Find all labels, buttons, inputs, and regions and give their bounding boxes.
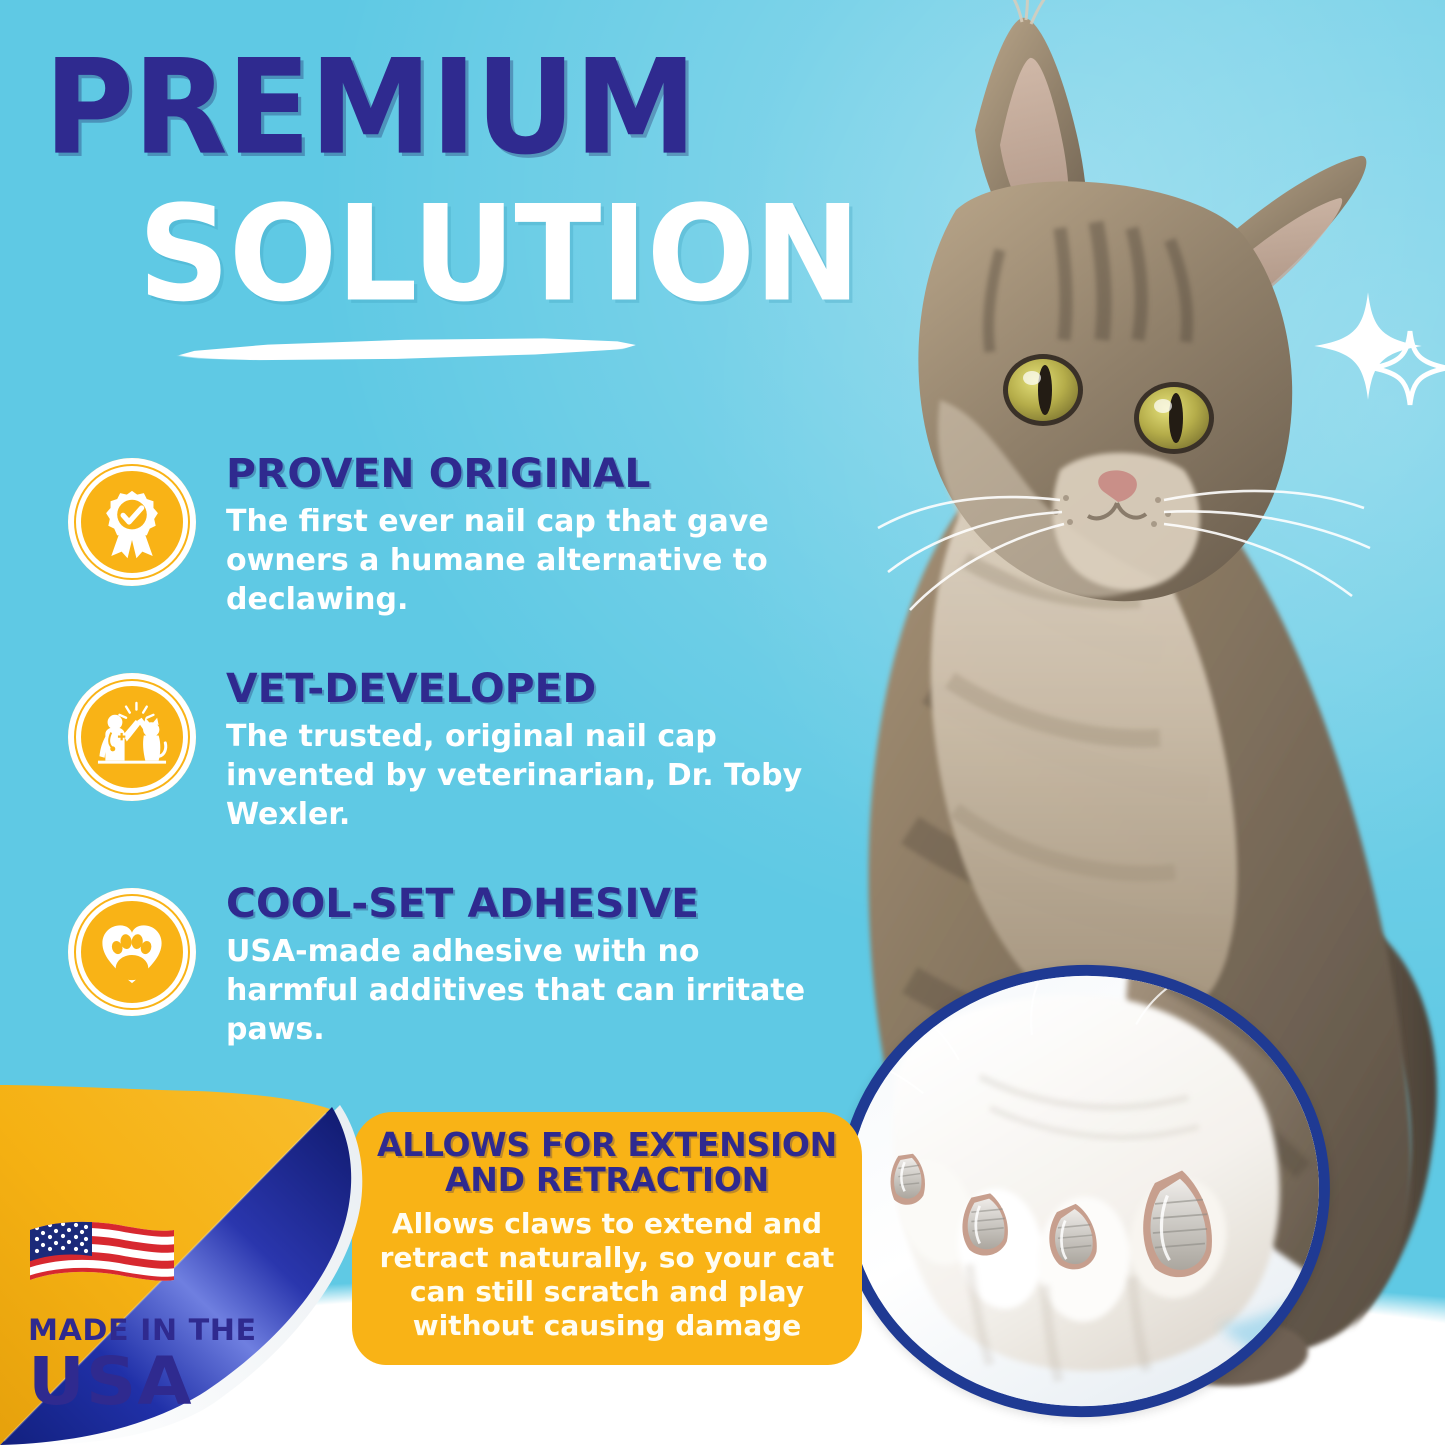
callout-title-line2: AND RETRACTION <box>374 1163 840 1198</box>
callout-title-line1: ALLOWS FOR EXTENSION <box>374 1128 840 1163</box>
made-in-the-label: MADE IN THE <box>28 1316 267 1345</box>
usa-label: USA <box>28 1349 272 1415</box>
headline-line-premium: PREMIUM <box>44 52 881 165</box>
feature-item-proven-original: PROVEN ORIGINAL The first ever nail cap … <box>62 448 842 619</box>
infographic-canvas: PREMIUM SOLUTION <box>0 0 1445 1445</box>
feature-body: The first ever nail cap that gave owners… <box>226 502 806 619</box>
feature-body: USA-made adhesive with no harmful additi… <box>226 932 806 1049</box>
underline-swoosh <box>176 334 636 365</box>
feature-list: PROVEN ORIGINAL The first ever nail cap … <box>62 448 842 1049</box>
callout-title: ALLOWS FOR EXTENSION AND RETRACTION <box>374 1128 840 1197</box>
heart-paw-icon <box>62 882 202 1022</box>
feature-body: The trusted, original nail cap invented … <box>226 717 806 834</box>
vet-high-five-cat-icon <box>62 667 202 807</box>
cat-paw-with-nail-caps-photo <box>823 948 1345 1433</box>
callout-extension-retraction: ALLOWS FOR EXTENSION AND RETRACTION Allo… <box>352 1112 862 1365</box>
made-in-usa-badge: MADE IN THE USA <box>28 1218 258 1415</box>
headline-block: PREMIUM SOLUTION <box>44 52 834 298</box>
callout-body: Allows claws to extend and retract natur… <box>374 1207 840 1343</box>
feature-item-vet-developed: VET-DEVELOPED The trusted, original nail… <box>62 663 842 834</box>
usa-flag-icon <box>28 1218 176 1304</box>
feature-item-cool-set-adhesive: COOL-SET ADHESIVE USA-made adhesive with… <box>62 878 842 1049</box>
award-ribbon-check-icon <box>62 452 202 592</box>
